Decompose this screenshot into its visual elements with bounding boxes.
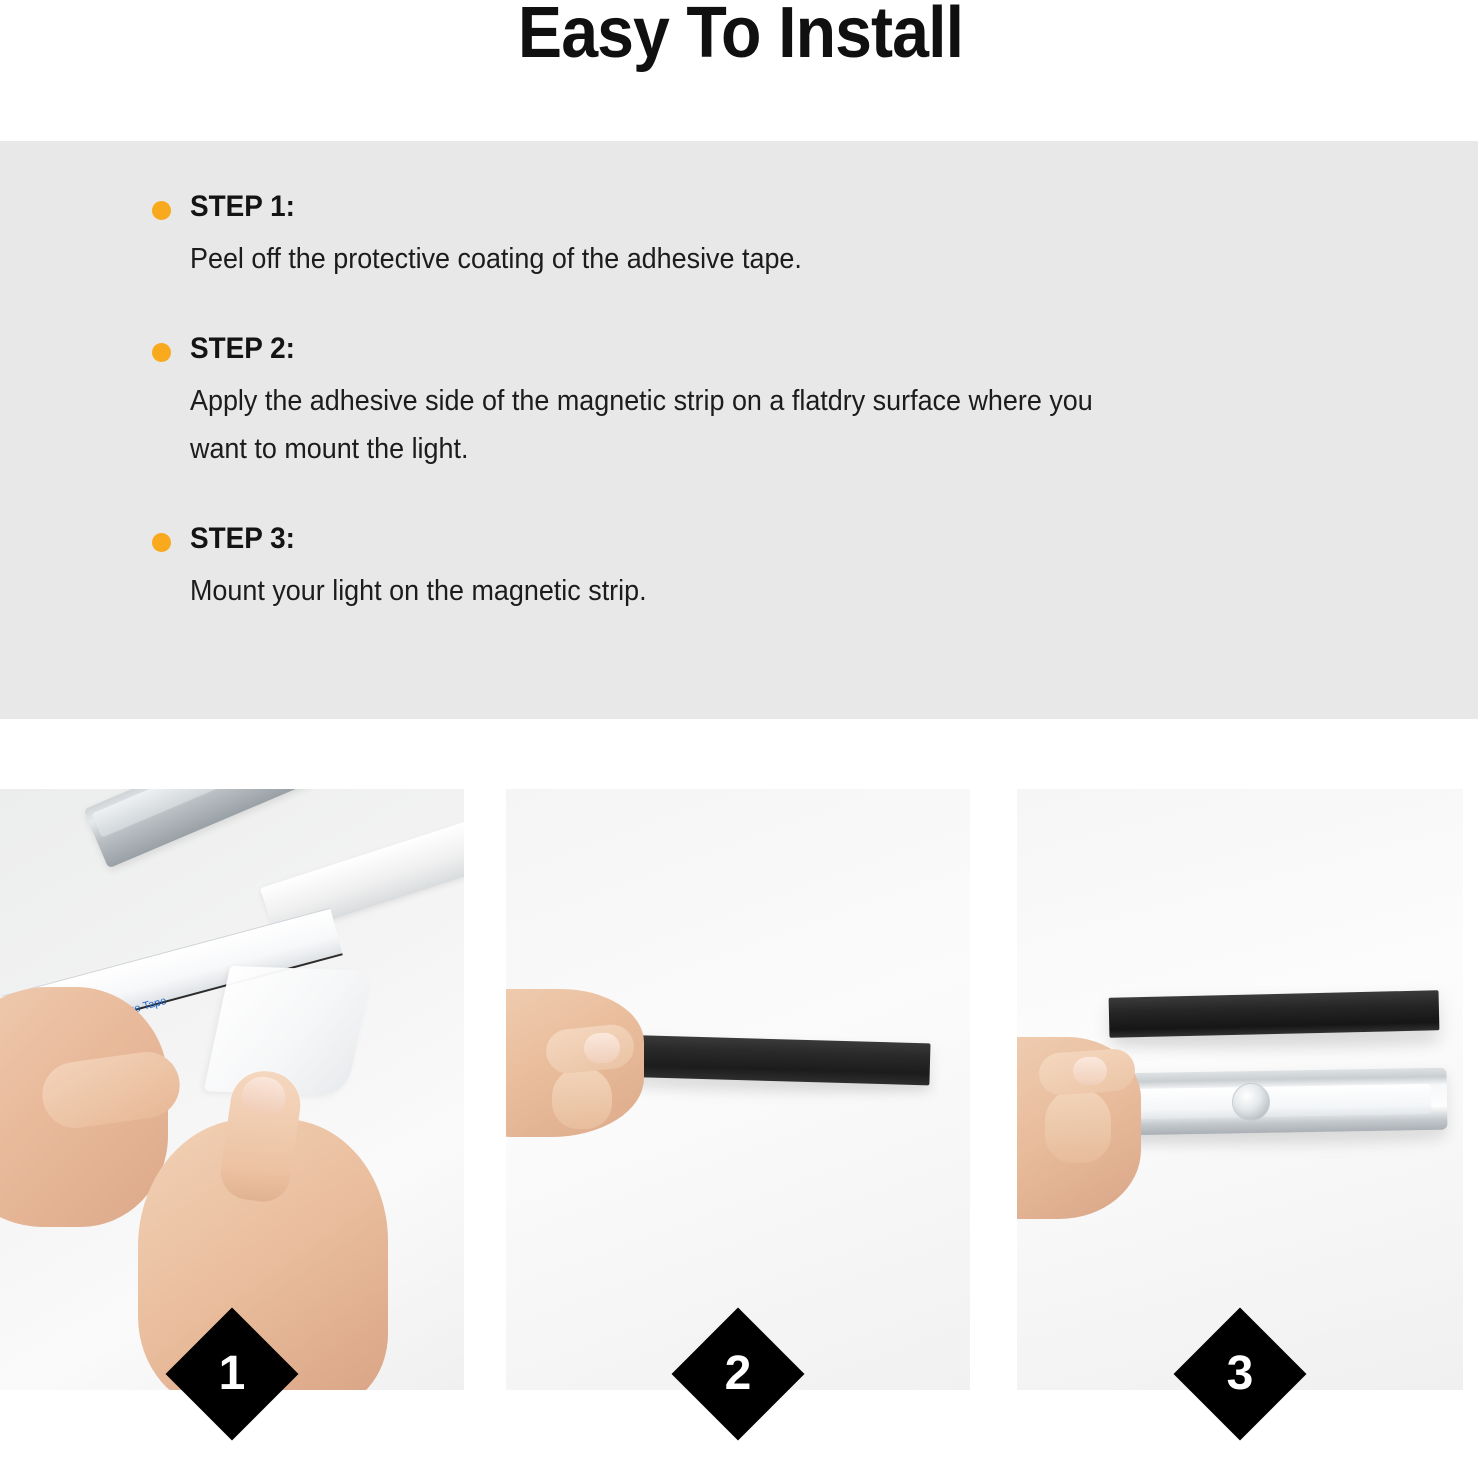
step-item-1: STEP 1: Peel off the protective coating … [152,187,1418,283]
badge-number: 3 [1193,1327,1287,1421]
badge-number: 1 [185,1327,279,1421]
step-item-2: STEP 2: Apply the adhesive side of the m… [152,329,1418,473]
magnetic-strip [613,1035,930,1086]
step-1-label: STEP 1: [190,187,1332,227]
badge-number: 2 [691,1327,785,1421]
step-1-text: Peel off the protective coating of the a… [190,235,1144,283]
photo-step-3: 3 [1017,789,1463,1390]
photo-step-1: 9448A 3M Double Coated Tissue Tape 9448A… [0,789,464,1390]
step-badge-2: 2 [672,1308,805,1441]
photo-2-canvas [506,789,970,1390]
step-2-label: STEP 2: [190,329,1332,369]
thumb [1045,1089,1111,1163]
step-badge-1: 1 [166,1308,299,1441]
step-item-3: STEP 3: Mount your light on the magnetic… [152,519,1418,615]
page-title: Easy To Install [59,0,1422,72]
photo-1-canvas: 9448A 3M Double Coated Tissue Tape 9448A… [0,789,464,1390]
step-3-text: Mount your light on the magnetic strip. [190,567,1144,615]
thumb [552,1067,612,1129]
steps-panel: STEP 1: Peel off the protective coating … [0,141,1478,719]
photo-step-2: 2 [506,789,970,1390]
magnetic-strip [1109,990,1440,1037]
protective-liner [204,966,373,1096]
bullet-icon [152,533,171,552]
step-2-text: Apply the adhesive side of the magnetic … [190,377,1144,473]
step-3-label: STEP 3: [190,519,1332,559]
photo-3-canvas [1017,789,1463,1390]
photo-row: 9448A 3M Double Coated Tissue Tape 9448A… [0,789,1481,1424]
step-badge-3: 3 [1174,1308,1307,1441]
fingernail [1073,1057,1107,1085]
steps-list: STEP 1: Peel off the protective coating … [152,187,1418,615]
bullet-icon [152,343,171,362]
bullet-icon [152,201,171,220]
